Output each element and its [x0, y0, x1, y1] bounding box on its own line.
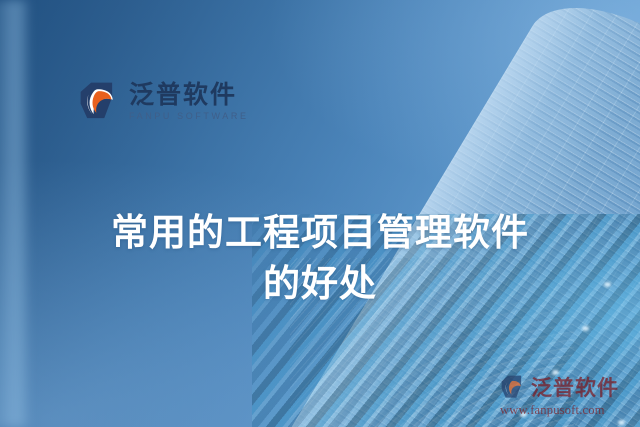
- watermark-fanpu-sail-hexagon-logo-icon: [500, 374, 526, 400]
- watermark-url: www.fanpusoft.com: [500, 403, 640, 418]
- promo-banner: 泛普软件 FANPU SOFTWARE 常用的工程项目管理软件 的好处 泛普软件…: [0, 0, 640, 427]
- headline-line-2: 的好处: [0, 258, 640, 309]
- site-watermark: 泛普软件 www.fanpusoft.com: [500, 372, 640, 418]
- brand-logo: 泛普软件 FANPU SOFTWARE: [78, 80, 249, 122]
- headline-title: 常用的工程项目管理软件 的好处: [0, 207, 640, 309]
- watermark-logo-row: 泛普软件: [500, 372, 640, 402]
- brand-name-cn: 泛普软件: [129, 82, 249, 107]
- brand-wordmark: 泛普软件 FANPU SOFTWARE: [129, 82, 249, 121]
- watermark-brand-name: 泛普软件: [531, 372, 619, 402]
- headline-line-1: 常用的工程项目管理软件: [0, 207, 640, 258]
- fanpu-sail-hexagon-logo-icon: [78, 80, 120, 122]
- brand-name-en: FANPU SOFTWARE: [129, 112, 249, 121]
